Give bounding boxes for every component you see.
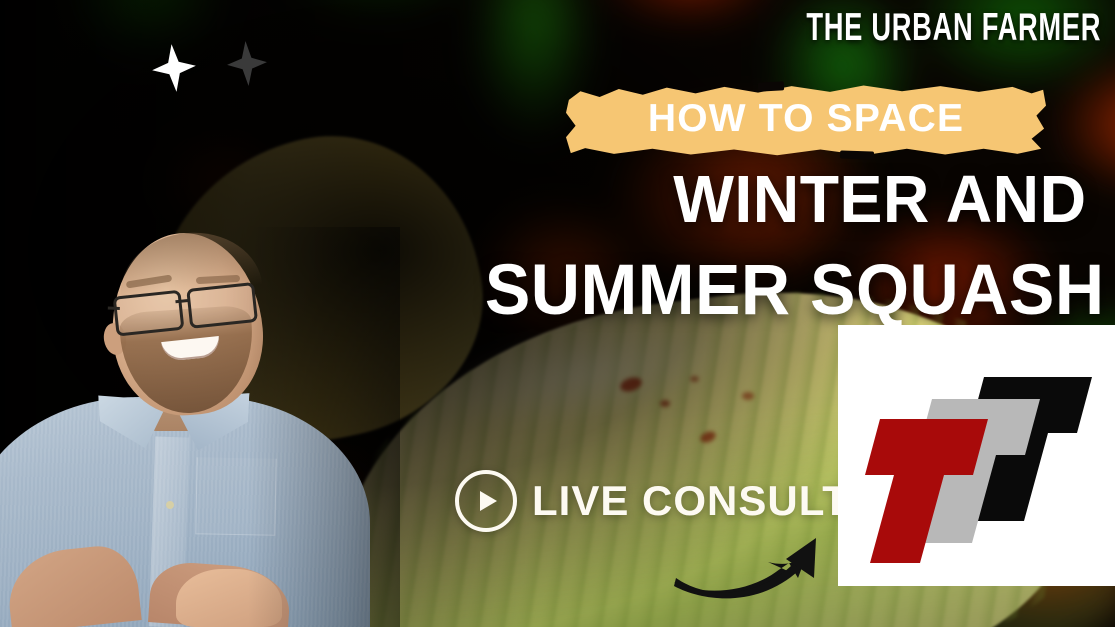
title-line-1: WINTER AND (674, 166, 1087, 233)
banner-highlight: HOW TO SPACE (566, 84, 1046, 156)
presenter-hands (176, 569, 282, 627)
banner-text: HOW TO SPACE (566, 84, 1046, 156)
presenter-cutout (0, 227, 400, 627)
logo-mark (856, 343, 1097, 568)
curved-arrow-icon (668, 520, 848, 606)
shirt-pocket (195, 457, 276, 535)
logo-card (838, 325, 1115, 586)
video-thumbnail: THE URBAN FARMER HOW TO SPACE WINTER AND… (0, 0, 1115, 627)
glasses-lens-right (186, 282, 258, 329)
brand-title: THE URBAN FARMER (806, 8, 1101, 47)
play-circle-icon (455, 470, 517, 532)
glasses-temple (108, 307, 120, 310)
glasses-lens-left (113, 290, 185, 337)
cta-label: LIVE CONSULT (532, 477, 849, 525)
shirt-button (166, 501, 174, 509)
title-line-2: SUMMER SQUASH (485, 255, 1105, 326)
